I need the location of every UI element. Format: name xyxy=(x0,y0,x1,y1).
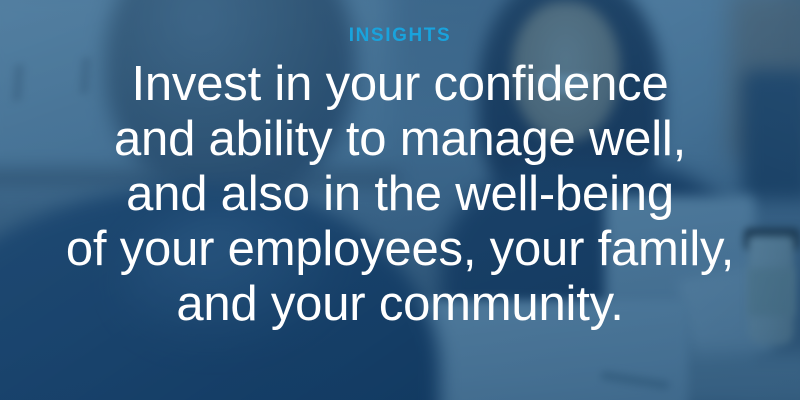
eyebrow-label: INSIGHTS xyxy=(349,26,452,45)
quote-line: and ability to manage well, xyxy=(0,112,800,167)
quote-line: and also in the well-being xyxy=(0,167,800,222)
quote-headline: Invest in your confidence and ability to… xyxy=(0,57,800,332)
quote-line: of your employees, your family, xyxy=(0,222,800,277)
quote-line: Invest in your confidence xyxy=(0,57,800,112)
insights-quote-card: INSIGHTS Invest in your confidence and a… xyxy=(0,0,800,400)
quote-line: and your community. xyxy=(0,277,800,332)
quote-content: INSIGHTS Invest in your confidence and a… xyxy=(0,0,800,400)
